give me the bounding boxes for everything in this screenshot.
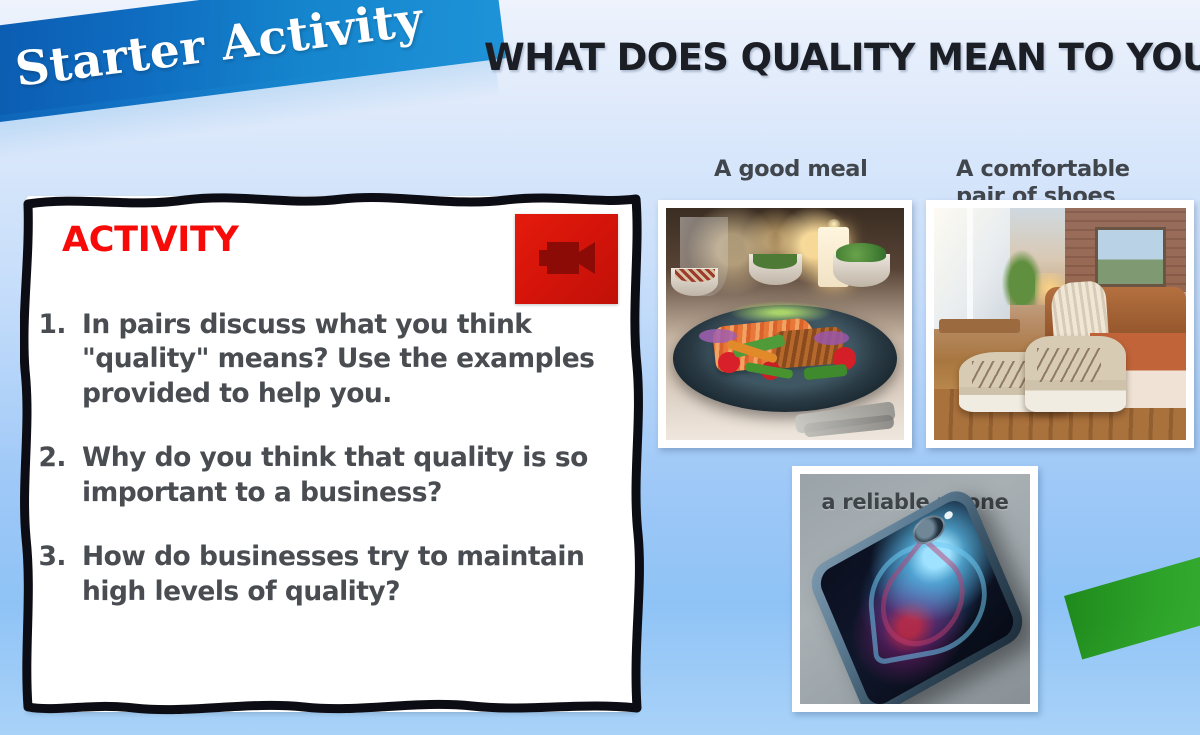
meal-herb-bowl bbox=[833, 254, 890, 286]
photo-reliable-phone: a reliable phone bbox=[792, 466, 1038, 712]
list-item-number: 3. bbox=[38, 540, 82, 574]
list-item: 1. In pairs discuss what you think "qual… bbox=[38, 308, 622, 411]
photo-comfortable-shoes bbox=[926, 200, 1194, 448]
list-item-text: Why do you think that quality is so impo… bbox=[82, 441, 622, 510]
photo-good-meal-image bbox=[666, 208, 904, 440]
green-accent-shape bbox=[1064, 538, 1200, 659]
page-title: WHAT DOES QUALITY MEAN TO YOU? bbox=[484, 39, 1200, 78]
list-item-text: How do businesses try to maintain high l… bbox=[82, 540, 622, 609]
list-item-number: 2. bbox=[38, 441, 82, 475]
activity-heading: ACTIVITY bbox=[62, 220, 239, 260]
list-item: 3. How do businesses try to maintain hig… bbox=[38, 540, 622, 609]
photo-good-meal bbox=[658, 200, 912, 448]
video-camera-icon bbox=[515, 214, 618, 304]
list-item-text: In pairs discuss what you think "quality… bbox=[82, 308, 622, 411]
list-item-number: 1. bbox=[38, 308, 82, 342]
caption-good-meal: A good meal bbox=[714, 156, 914, 183]
shoe-laces bbox=[1037, 348, 1102, 382]
meal-side-bowl bbox=[749, 254, 801, 284]
photo-comfortable-shoes-image bbox=[934, 208, 1186, 440]
photo-reliable-phone-image: a reliable phone bbox=[800, 474, 1030, 704]
activity-question-list: 1. In pairs discuss what you think "qual… bbox=[38, 308, 622, 639]
meal-red-onion bbox=[814, 331, 850, 345]
list-item: 2. Why do you think that quality is so i… bbox=[38, 441, 622, 510]
slide-canvas: Starter Activity WHAT DOES QUALITY MEAN … bbox=[0, 0, 1200, 735]
activity-box: ACTIVITY 1. In pairs discuss what you th… bbox=[26, 196, 638, 712]
shoes-window bbox=[934, 208, 1010, 329]
shoes-framed-picture bbox=[1095, 227, 1166, 287]
shoes-coffee-table bbox=[939, 319, 1020, 333]
shoe-right bbox=[1025, 336, 1126, 413]
